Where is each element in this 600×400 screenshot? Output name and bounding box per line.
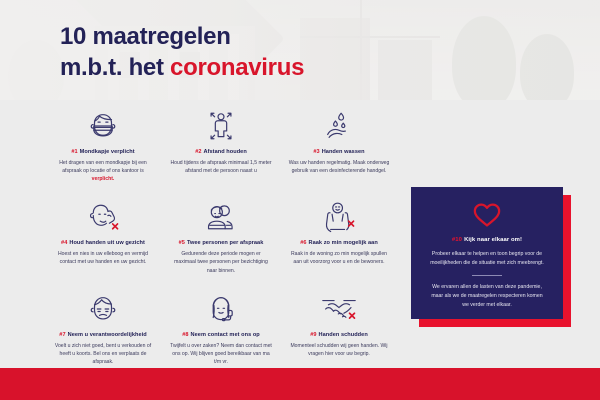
measure-title-2: #2Afstand houden xyxy=(166,149,276,156)
measure-card-4: #4Houd handen uit uw gezicht Hoest en ni… xyxy=(44,197,162,280)
measure-body-1: Het dragen van een mondkapje bij een afs… xyxy=(48,159,158,184)
measure-card-6: #6Raak zo min mogelijk aan Raak in de wo… xyxy=(280,197,398,280)
measure-body-7: Voelt u zich niet goed, bent u verkouden… xyxy=(48,342,158,367)
no-touching-face-icon xyxy=(48,197,158,237)
measure-title-3: #3Handen wassen xyxy=(284,149,394,156)
highlight-card-divider xyxy=(472,275,502,276)
social-distance-person-icon xyxy=(166,106,276,146)
measure-title-4: #4Houd handen uit uw gezicht xyxy=(48,240,158,247)
measure-title-1: #1Mondkapje verplicht xyxy=(48,149,158,156)
no-handshake-icon xyxy=(284,289,394,329)
measure-body-9: Momenteel schudden wij geen handen. Wij … xyxy=(284,342,394,359)
no-touching-objects-hands-icon xyxy=(284,197,394,237)
measure-card-2: #2Afstand houden Houd tijdens de afspraa… xyxy=(162,106,280,189)
measure-title-7: #7Neem u verantwoordelijkheid xyxy=(48,332,158,339)
page-title: 10 maatregelen m.b.t. het coronavirus xyxy=(60,22,304,83)
title-line-1: 10 maatregelen xyxy=(60,22,304,53)
title-line-2-accent: coronavirus xyxy=(170,54,304,81)
measure-body-3: Was uw handen regelmatig. Maak onderweg … xyxy=(284,159,394,176)
header-banner: 10 maatregelen m.b.t. het coronavirus xyxy=(0,0,600,100)
measure-body-4: Hoest en nies in uw elleboog en vermijd … xyxy=(48,250,158,267)
two-people-icon xyxy=(166,197,276,237)
measure-title-6: #6Raak zo min mogelijk aan xyxy=(284,240,394,247)
measure-number-9: #9 xyxy=(310,332,316,338)
measure-title-8: #8Neem contact met ons op xyxy=(166,332,276,339)
face-mask-icon xyxy=(48,106,158,146)
measures-row-3: #7Neem u verantwoordelijkheid Voelt u zi… xyxy=(44,289,400,372)
measure-number-8: #8 xyxy=(182,332,188,338)
measures-grid: #1Mondkapje verplicht Het dragen van een… xyxy=(44,106,400,372)
infographic-page: 10 maatregelen m.b.t. het coronavirus xyxy=(0,0,600,400)
measure-card-1: #1Mondkapje verplicht Het dragen van een… xyxy=(44,106,162,189)
measure-number-6: #6 xyxy=(300,240,306,246)
measure-card-7: #7Neem u verantwoordelijkheid Voelt u zi… xyxy=(44,289,162,372)
heart-icon xyxy=(425,202,549,228)
measure-card-5: #5Twee personen per afspraak Gedurende d… xyxy=(162,197,280,280)
measure-number-5: #5 xyxy=(179,240,185,246)
measures-row-2: #4Houd handen uit uw gezicht Hoest en ni… xyxy=(44,197,400,280)
measure-title-5: #5Twee personen per afspraak xyxy=(166,240,276,247)
footer-accent-bar xyxy=(0,368,600,400)
measures-row-1: #1Mondkapje verplicht Het dragen van een… xyxy=(44,106,400,189)
measure-card-3: #3Handen wassen Was uw handen regelmatig… xyxy=(280,106,398,189)
measure-number-7: #7 xyxy=(59,332,65,338)
measure-number-3: #3 xyxy=(313,149,319,155)
measure-body-5: Gedurende deze periode mogen er maximaal… xyxy=(166,250,276,275)
measure-card-8: #8Neem contact met ons op Twijfelt u ove… xyxy=(162,289,280,372)
title-line-2-plain: m.b.t. het xyxy=(60,54,170,81)
measure-number-4: #4 xyxy=(61,240,67,246)
headset-support-person-icon xyxy=(166,289,276,329)
measure-number-2: #2 xyxy=(195,149,201,155)
measure-card-9: #9Handen schudden Momenteel schudden wij… xyxy=(280,289,398,372)
sick-face-icon xyxy=(48,289,158,329)
measure-title-9: #9Handen schudden xyxy=(284,332,394,339)
highlight-card-paragraph-2: We ervaren allen de lasten van deze pand… xyxy=(425,283,549,310)
highlight-card-number: #10 xyxy=(452,237,462,243)
washing-hands-icon xyxy=(284,106,394,146)
measure-body-8: Twijfelt u over zaken? Neem dan contact … xyxy=(166,342,276,367)
highlight-card: #10Kijk naar elkaar om! Probeer elkaar t… xyxy=(411,187,563,319)
title-line-2: m.b.t. het coronavirus xyxy=(60,53,304,84)
measure-number-1: #1 xyxy=(71,149,77,155)
highlight-card-title: #10Kijk naar elkaar om! xyxy=(425,237,549,243)
measure-body-6: Raak in de woning zo min mogelijk spulle… xyxy=(284,250,394,267)
highlight-card-paragraph-1: Probeer elkaar te helpen en toon begrip … xyxy=(425,250,549,268)
measure-body-2: Houd tijdens de afspraak minimaal 1,5 me… xyxy=(166,159,276,176)
